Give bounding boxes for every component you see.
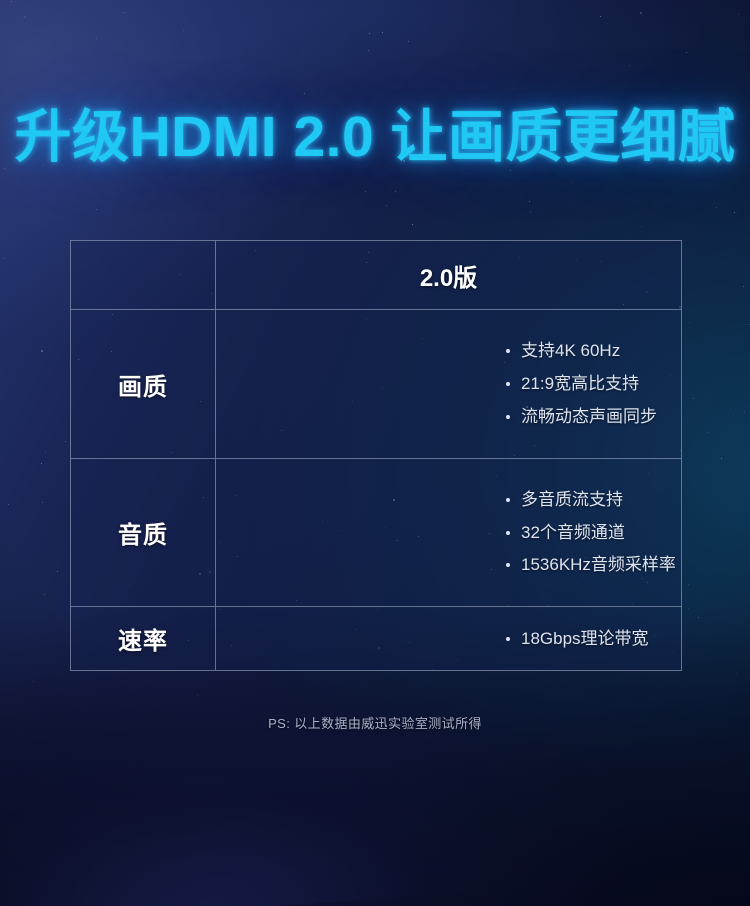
row-value-cell-speed: 18Gbps理论带宽 — [216, 607, 681, 670]
footnote-text: PS: 以上数据由威迅实验室测试所得 — [0, 713, 750, 732]
list-item: 多音质流支持 — [506, 489, 681, 511]
bullet-list-speed: 18Gbps理论带宽 — [216, 628, 681, 650]
table-row-speed: 速率 18Gbps理论带宽 — [71, 607, 681, 670]
header-cell-empty — [71, 241, 216, 309]
list-item: 支持4K 60Hz — [506, 340, 681, 362]
row-label-cell-speed: 速率 — [71, 607, 216, 670]
promo-banner: 升级HDMI 2.0 让画质更细腻 2.0版 画质 支持4K 60Hz 21:9… — [0, 0, 750, 906]
row-value-cell-audio-quality: 多音质流支持 32个音频通道 1536KHz音频采样率 — [216, 459, 681, 606]
table-row-audio-quality: 音质 多音质流支持 32个音频通道 1536KHz音频采样率 — [71, 459, 681, 607]
row-label-cell-picture-quality: 画质 — [71, 310, 216, 458]
row-label-speed: 速率 — [118, 621, 168, 656]
row-value-cell-picture-quality: 支持4K 60Hz 21:9宽高比支持 流畅动态声画同步 — [216, 310, 681, 458]
bullet-list-audio-quality: 多音质流支持 32个音频通道 1536KHz音频采样率 — [216, 489, 681, 576]
table-header-row: 2.0版 — [71, 241, 681, 310]
page-title: 升级HDMI 2.0 让画质更细腻 — [14, 107, 735, 167]
list-item: 1536KHz音频采样率 — [506, 554, 681, 576]
row-label-audio-quality: 音质 — [118, 515, 168, 550]
bullet-list-picture-quality: 支持4K 60Hz 21:9宽高比支持 流畅动态声画同步 — [216, 340, 681, 427]
row-label-cell-audio-quality: 音质 — [71, 459, 216, 606]
list-item: 18Gbps理论带宽 — [506, 628, 681, 650]
spec-comparison-table: 2.0版 画质 支持4K 60Hz 21:9宽高比支持 流畅动态声画同步 音质 — [70, 240, 682, 671]
headline-container: 升级HDMI 2.0 让画质更细腻 — [0, 107, 750, 167]
list-item: 21:9宽高比支持 — [506, 373, 681, 395]
header-version-label: 2.0版 — [216, 258, 681, 293]
row-label-picture-quality: 画质 — [118, 367, 168, 402]
list-item: 32个音频通道 — [506, 522, 681, 544]
table-row-picture-quality: 画质 支持4K 60Hz 21:9宽高比支持 流畅动态声画同步 — [71, 310, 681, 459]
header-cell-version: 2.0版 — [216, 241, 681, 309]
list-item: 流畅动态声画同步 — [506, 406, 681, 428]
